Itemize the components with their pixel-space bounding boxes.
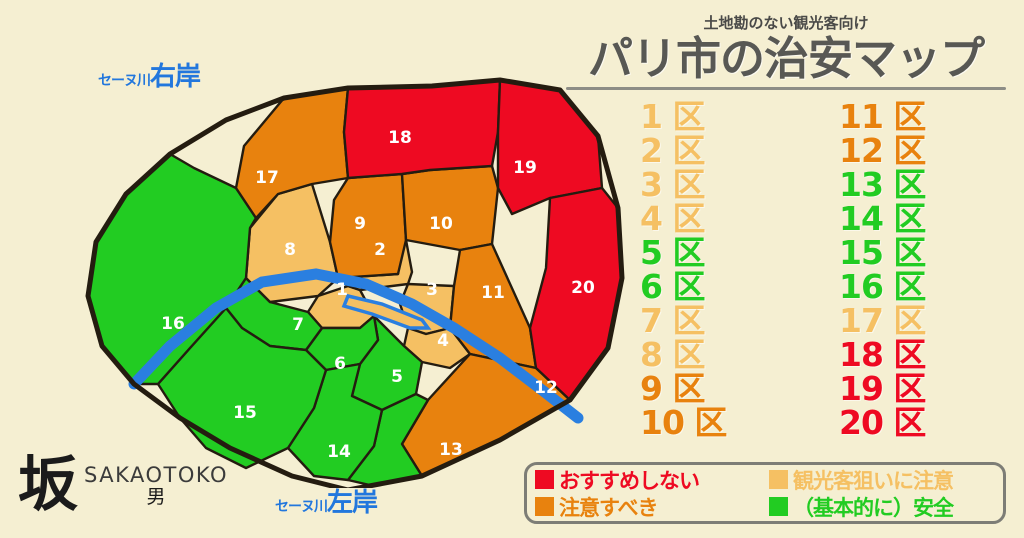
district-list-item: 1 区 [640, 100, 813, 134]
district-list-item: 7 区 [640, 304, 813, 338]
district-number-19: 19 [513, 158, 537, 178]
district-number-6: 6 [334, 354, 346, 374]
district-list-item: 14 区 [839, 202, 1012, 236]
district-number-8: 8 [284, 240, 296, 260]
district-list-item: 9 区 [640, 372, 813, 406]
district-list: 1 区2 区3 区4 区5 区6 区7 区8 区9 区10 区 11 区12 区… [560, 100, 1012, 440]
paris-district-map: 1234567891011121314151617181920 [30, 28, 630, 488]
district-number-10: 10 [429, 214, 453, 234]
district-list-item: 19 区 [839, 372, 1012, 406]
district-list-item: 3 区 [640, 168, 813, 202]
logo-romaji: SAKAOTOKO [84, 465, 228, 486]
legend-column-left: おすすめしない注意すべき [535, 467, 761, 519]
legend-column-right: 観光客狙いに注意（基本的に）安全 [761, 467, 995, 519]
district-number-9: 9 [354, 214, 366, 234]
district-number-11: 11 [481, 283, 505, 303]
legend: おすすめしない注意すべき 観光客狙いに注意（基本的に）安全 [524, 462, 1006, 524]
seine-left-bank-prefix: セーヌ川 [275, 499, 327, 515]
district-area-9 [330, 174, 406, 278]
district-list-item: 11 区 [839, 100, 1012, 134]
header: 土地勘のない観光客向け パリ市の治安マップ [560, 12, 1012, 90]
sakaotoko-logo: 坂 SAKAOTOKO 男 [18, 458, 228, 513]
district-number-18: 18 [388, 128, 412, 148]
district-list-item: 6 区 [640, 270, 813, 304]
legend-item: 注意すべき [535, 494, 761, 519]
district-list-item: 4 区 [640, 202, 813, 236]
seine-right-bank-label: セーヌ川右岸 [98, 56, 200, 93]
legend-item: おすすめしない [535, 467, 761, 492]
district-list-item: 13 区 [839, 168, 1012, 202]
district-list-column-left: 1 区2 区3 区4 区5 区6 区7 区8 区9 区10 区 [560, 100, 813, 440]
district-list-item: 5 区 [640, 236, 813, 270]
district-list-item: 17 区 [839, 304, 1012, 338]
map-svg: 1234567891011121314151617181920 [30, 28, 630, 488]
legend-swatch-caution [535, 497, 554, 516]
district-list-item: 18 区 [839, 338, 1012, 372]
district-list-item: 15 区 [839, 236, 1012, 270]
logo-sub-kanji: 男 [84, 488, 228, 507]
legend-swatch-danger [535, 470, 554, 489]
legend-label: 注意すべき [559, 492, 658, 522]
seine-left-bank-label: セーヌ川左岸 [275, 482, 377, 519]
district-list-item: 10 区 [640, 406, 813, 440]
district-number-2: 2 [374, 240, 386, 260]
legend-label: おすすめしない [559, 465, 699, 495]
district-number-12: 12 [534, 378, 558, 398]
district-number-7: 7 [292, 315, 304, 335]
legend-item: 観光客狙いに注意 [769, 467, 995, 492]
legend-swatch-tourist [769, 470, 788, 489]
legend-label: 観光客狙いに注意 [793, 465, 953, 495]
logo-kanji: 坂 [18, 458, 78, 513]
district-number-14: 14 [327, 442, 351, 462]
district-list-column-right: 11 区12 区13 区14 区15 区16 区17 区18 区19 区20 区 [813, 100, 1012, 440]
title-underline [566, 87, 1006, 90]
district-number-5: 5 [391, 367, 403, 387]
district-number-4: 4 [437, 331, 449, 351]
district-number-16: 16 [161, 314, 185, 334]
seine-right-bank-name: 右岸 [150, 62, 200, 92]
district-area-18 [344, 80, 500, 178]
district-number-3: 3 [426, 280, 438, 300]
legend-swatch-safe [769, 497, 788, 516]
district-list-item: 8 区 [640, 338, 813, 372]
legend-label: （基本的に）安全 [793, 492, 953, 522]
district-list-item: 2 区 [640, 134, 813, 168]
seine-right-bank-prefix: セーヌ川 [98, 73, 150, 89]
district-area-10 [402, 166, 498, 250]
seine-left-bank-name: 左岸 [327, 488, 377, 518]
district-number-17: 17 [255, 168, 279, 188]
district-list-item: 12 区 [839, 134, 1012, 168]
district-list-item: 20 区 [839, 406, 1012, 440]
header-subtitle: 土地勘のない観光客向け [560, 12, 1012, 33]
district-list-item: 16 区 [839, 270, 1012, 304]
legend-item: （基本的に）安全 [769, 494, 995, 519]
district-number-1: 1 [336, 280, 348, 300]
page-title: パリ市の治安マップ [560, 35, 1012, 84]
district-number-15: 15 [233, 403, 257, 423]
